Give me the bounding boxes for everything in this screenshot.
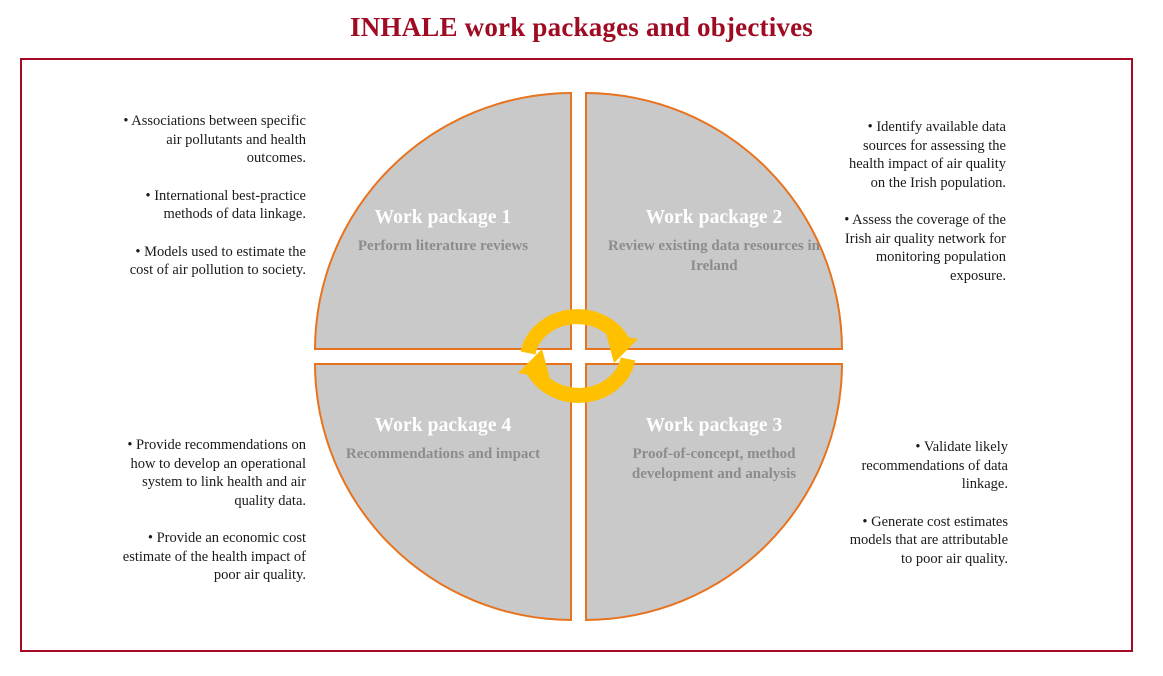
quadrant-subtitle-wp1: Perform literature reviews xyxy=(316,236,570,256)
cycle-arrows-icon xyxy=(514,297,642,415)
quadrant-subtitle-wp2: Review existing data resources in Irelan… xyxy=(587,236,841,276)
quadrant-subtitle-wp4: Recommendations and impact xyxy=(316,444,570,464)
objective-item: • Models used to estimate the cost of ai… xyxy=(110,243,306,280)
objectives-bottom-left: • Provide recommendations on how to deve… xyxy=(112,436,306,585)
quadrant-title-wp1: Work package 1 xyxy=(316,207,570,229)
quadrant-title-wp2: Work package 2 xyxy=(587,207,841,229)
objective-item: • Provide an economic cost estimate of t… xyxy=(112,529,306,585)
objectives-top-left: • Associations between specific air poll… xyxy=(110,112,306,280)
objective-item: • Generate cost estimates models that ar… xyxy=(840,513,1008,569)
objectives-bottom-right: • Validate likely recommendations of dat… xyxy=(840,438,1008,568)
quadrant-title-wp3: Work package 3 xyxy=(587,415,841,437)
objective-item: • International best-practice methods of… xyxy=(110,187,306,224)
objective-item: • Validate likely recommendations of dat… xyxy=(840,438,1008,494)
quadrant-subtitle-wp3: Proof-of-concept, method development and… xyxy=(587,444,841,484)
page-title: INHALE work packages and objectives xyxy=(0,12,1163,43)
slide-canvas: INHALE work packages and objectives Work… xyxy=(0,0,1163,676)
objective-item: • Associations between specific air poll… xyxy=(110,112,306,168)
objective-item: • Identify available data sources for as… xyxy=(838,118,1006,192)
objective-item: • Provide recommendations on how to deve… xyxy=(112,436,306,510)
objective-item: • Assess the coverage of the Irish air q… xyxy=(838,211,1006,285)
objectives-top-right: • Identify available data sources for as… xyxy=(838,118,1006,285)
quadrant-title-wp4: Work package 4 xyxy=(316,415,570,437)
